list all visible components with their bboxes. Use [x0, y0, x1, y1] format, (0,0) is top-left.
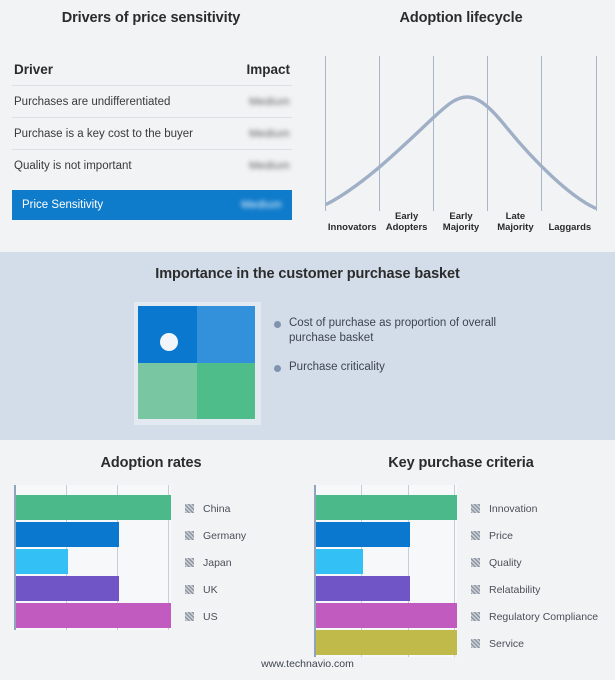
bar-track [16, 549, 171, 574]
bar-service [316, 630, 457, 655]
legend-label: Innovation [489, 503, 537, 515]
infographic-page: Drivers of price sensitivity Driver Impa… [0, 0, 615, 680]
column-header-driver: Driver [14, 62, 53, 77]
legend-swatch-icon [471, 585, 480, 594]
bar-us [16, 603, 171, 628]
legend-label: Purchase criticality [289, 360, 385, 375]
position-marker-dot [160, 333, 178, 351]
bell-curve-icon [325, 56, 597, 211]
bar-track [316, 549, 457, 574]
driver-label: Quality is not important [14, 160, 132, 172]
bar-series [16, 495, 171, 630]
bar-track [316, 576, 457, 601]
table-row: Purchase is a key cost to the buyer Medi… [12, 118, 292, 150]
list-item: China [185, 495, 246, 522]
footer-url: www.technavio.com [0, 658, 615, 670]
key-purchase-criteria-legend: InnovationPriceQualityRelatabilityRegula… [471, 485, 598, 657]
legend-label: Price [489, 530, 513, 542]
adoption-rates-panel: Adoption rates ChinaGermanyJapanUKUS [0, 440, 302, 655]
impact-value: Medium [249, 96, 290, 108]
bullet-dot-icon [274, 365, 281, 372]
lifecycle-stage-innovators: Innovators [325, 203, 379, 235]
list-item: Germany [185, 522, 246, 549]
adoption-rates-legend: ChinaGermanyJapanUKUS [185, 485, 246, 630]
purchase-basket-legend: Cost of purchase as proportion of overal… [274, 316, 574, 389]
bar-innovation [316, 495, 457, 520]
legend-label: UK [203, 584, 218, 596]
legend-swatch-icon [471, 639, 480, 648]
bar-germany [16, 522, 119, 547]
purchase-basket-title: Importance in the customer purchase bask… [0, 266, 615, 282]
legend-swatch-icon [471, 612, 480, 621]
legend-label: Cost of purchase as proportion of overal… [289, 316, 529, 346]
adoption-rates-title: Adoption rates [0, 455, 302, 471]
impact-value: Medium [241, 199, 282, 211]
adoption-rates-plot-area [14, 485, 171, 630]
bullet-dot-icon [274, 321, 281, 328]
list-item: Service [471, 630, 598, 657]
key-purchase-criteria-plot-area [314, 485, 457, 657]
list-item: Purchase criticality [274, 360, 574, 375]
lifecycle-stage-late-majority: Late Majority [488, 203, 542, 235]
drivers-table-header: Driver Impact [12, 62, 292, 86]
lifecycle-stage-laggards: Laggards [543, 203, 597, 235]
legend-swatch-icon [471, 558, 480, 567]
adoption-rates-chart: ChinaGermanyJapanUKUS [14, 485, 246, 630]
list-item: UK [185, 576, 246, 603]
list-item: Innovation [471, 495, 598, 522]
legend-label: Relatability [489, 584, 540, 596]
list-item: Cost of purchase as proportion of overal… [274, 316, 574, 346]
legend-swatch-icon [185, 585, 194, 594]
legend-label: US [203, 611, 218, 623]
list-item: Relatability [471, 576, 598, 603]
bar-track [316, 495, 457, 520]
quadrant-matrix-frame [134, 302, 261, 425]
legend-label: Service [489, 638, 524, 650]
lifecycle-stage-labels: Innovators Early Adopters Early Majority… [325, 203, 597, 235]
purchase-basket-band: Importance in the customer purchase bask… [0, 252, 615, 440]
legend-label: Japan [203, 557, 232, 569]
lifecycle-title: Adoption lifecycle [307, 10, 615, 26]
bar-track [16, 522, 171, 547]
legend-swatch-icon [471, 531, 480, 540]
bar-price [316, 522, 410, 547]
legend-label: China [203, 503, 230, 515]
quadrant-bottom-right [197, 363, 256, 420]
lifecycle-stage-early-majority: Early Majority [434, 203, 488, 235]
list-item: Japan [185, 549, 246, 576]
legend-swatch-icon [185, 612, 194, 621]
drivers-panel: Drivers of price sensitivity Driver Impa… [0, 0, 302, 252]
bar-uk [16, 576, 119, 601]
bar-quality [316, 549, 363, 574]
bottom-band: Adoption rates ChinaGermanyJapanUKUS Key… [0, 440, 615, 680]
bar-track [316, 603, 457, 628]
impact-value: Medium [249, 160, 290, 172]
driver-label: Price Sensitivity [22, 199, 103, 211]
bar-track [316, 630, 457, 655]
table-row: Purchases are undifferentiated Medium [12, 86, 292, 118]
top-band: Drivers of price sensitivity Driver Impa… [0, 0, 615, 252]
table-row-highlighted-price-sensitivity: Price Sensitivity Medium [12, 190, 292, 220]
lifecycle-stage-early-adopters: Early Adopters [379, 203, 433, 235]
bar-china [16, 495, 171, 520]
quadrant-bottom-left [138, 363, 197, 420]
quadrant-top-right [197, 306, 256, 363]
bar-track [16, 576, 171, 601]
drivers-title: Drivers of price sensitivity [0, 10, 302, 26]
bar-series [316, 495, 457, 657]
drivers-table: Driver Impact Purchases are undifferenti… [12, 62, 292, 220]
legend-label: Quality [489, 557, 522, 569]
list-item: US [185, 603, 246, 630]
quadrant-matrix [138, 306, 255, 419]
list-item: Regulatory Compliance [471, 603, 598, 630]
bar-relatability [316, 576, 410, 601]
list-item: Price [471, 522, 598, 549]
key-purchase-criteria-chart: InnovationPriceQualityRelatabilityRegula… [314, 485, 598, 657]
driver-label: Purchases are undifferentiated [14, 96, 170, 108]
column-header-impact: Impact [246, 62, 290, 77]
legend-swatch-icon [185, 558, 194, 567]
legend-swatch-icon [471, 504, 480, 513]
lifecycle-plot [325, 56, 597, 211]
bar-regulatory-compliance [316, 603, 457, 628]
legend-label: Regulatory Compliance [489, 611, 598, 623]
bar-track [316, 522, 457, 547]
driver-label: Purchase is a key cost to the buyer [14, 128, 193, 140]
lifecycle-panel: Adoption lifecycle Innovators Early Adop… [307, 0, 615, 252]
impact-value: Medium [249, 128, 290, 140]
bar-track [16, 603, 171, 628]
list-item: Quality [471, 549, 598, 576]
legend-swatch-icon [185, 531, 194, 540]
key-purchase-criteria-title: Key purchase criteria [307, 455, 615, 471]
key-purchase-criteria-panel: Key purchase criteria InnovationPriceQua… [307, 440, 615, 655]
legend-swatch-icon [185, 504, 194, 513]
table-row: Quality is not important Medium [12, 150, 292, 182]
bar-track [16, 495, 171, 520]
legend-label: Germany [203, 530, 246, 542]
bar-japan [16, 549, 68, 574]
